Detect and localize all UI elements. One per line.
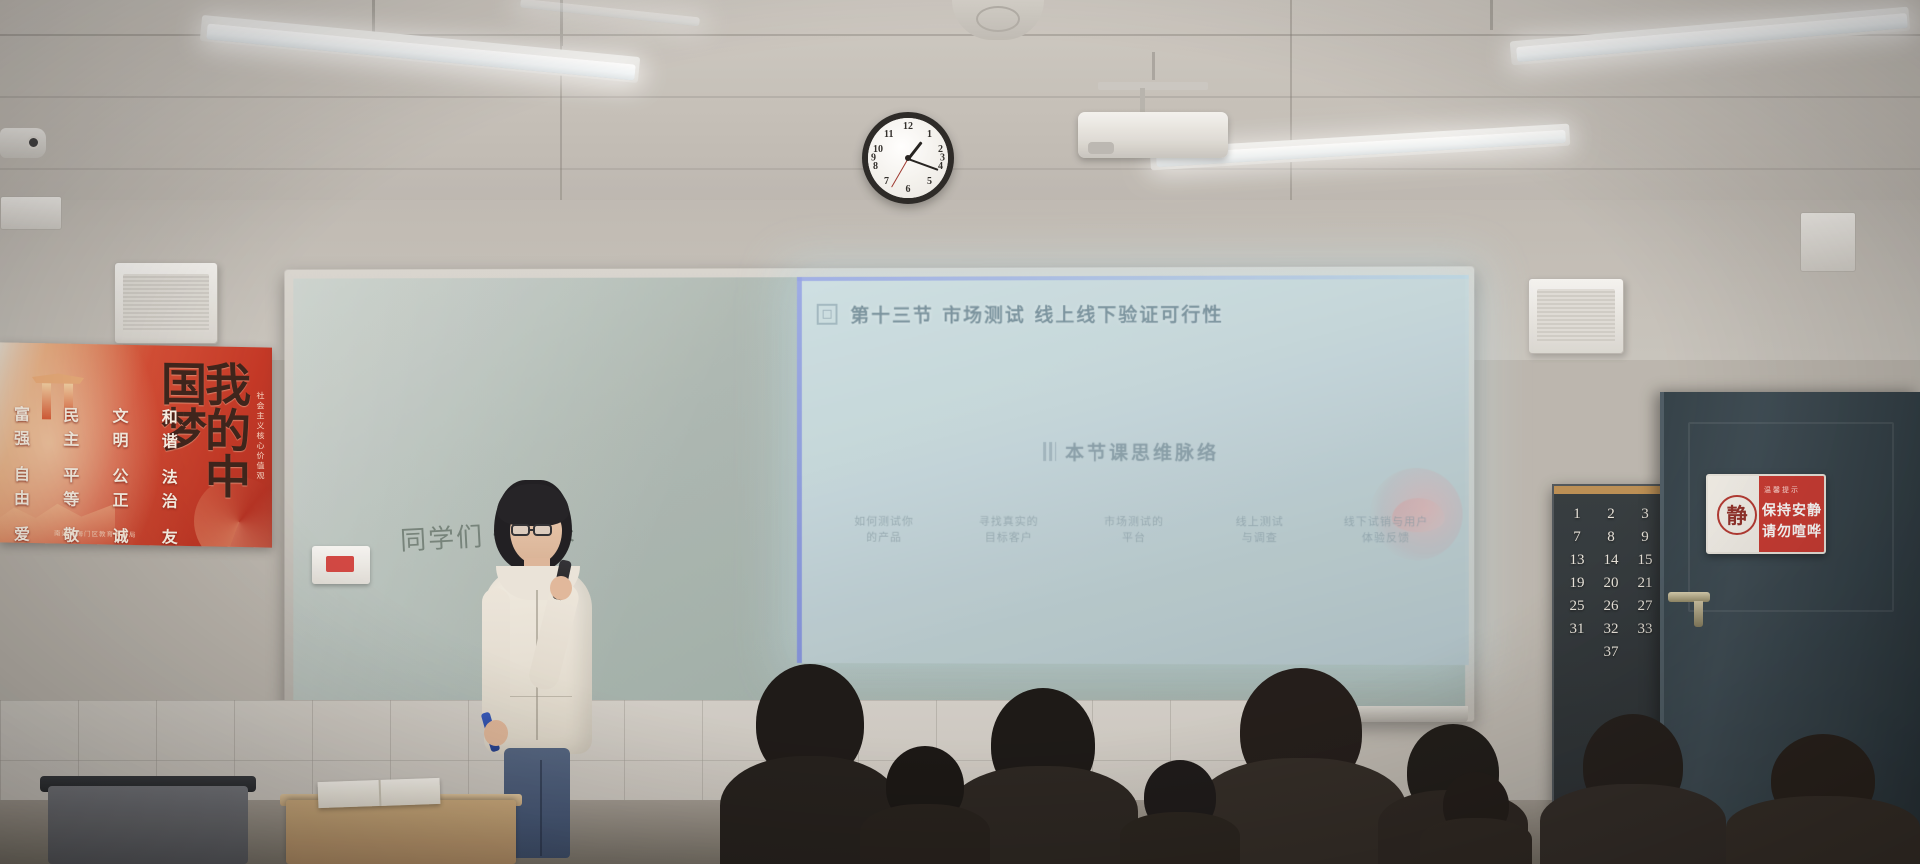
- seat-number: 32: [1604, 621, 1619, 638]
- teacher-hand-left: [484, 720, 508, 746]
- clock-numeral: 7: [884, 176, 889, 187]
- banner-side-text: 社会主义核心价值观: [255, 391, 266, 481]
- seat-row: 25 26 27: [1560, 598, 1662, 615]
- core-value-word: 民主: [63, 402, 95, 451]
- ceiling-projector: [1078, 112, 1228, 158]
- clock-numeral: 10: [873, 144, 883, 155]
- speaker-grill: [1537, 289, 1616, 342]
- banner-footer-text: 南通市海门区教育体育局: [54, 527, 137, 539]
- sign-top-text: 温馨提示: [1764, 485, 1800, 495]
- wall-speaker: [1528, 278, 1624, 354]
- seat-number: 27: [1638, 598, 1653, 615]
- slide-topic-cell: 寻找真实的 目标客户: [953, 514, 1065, 546]
- seat-number: 20: [1604, 575, 1619, 592]
- clock-numeral: 5: [927, 176, 932, 187]
- core-value-word: 自由: [14, 461, 46, 510]
- slide-center-text: 本节课思维脉络: [1065, 438, 1219, 465]
- board-eraser: [312, 546, 370, 584]
- projector-mount-plate: [1098, 82, 1208, 90]
- slide-title: 第十三节 市场测试 线上线下验证可行性: [850, 300, 1223, 328]
- light-rod: [1152, 52, 1155, 80]
- socialist-core-values-banner: 我的中国梦 社会主义核心价值观 富强 民主 文明 和谐 自由 平等 公正 法治 …: [0, 342, 272, 547]
- seat-number: 37: [1604, 644, 1619, 661]
- wall-clock: 12 1 2 3 4 5 6 7 8 9 10 11: [862, 112, 954, 204]
- glasses-icon: [533, 524, 552, 536]
- ceiling-seam: [0, 96, 1920, 98]
- clock-numeral: 11: [884, 129, 893, 140]
- seat-board-topbar: [1554, 486, 1668, 494]
- student-silhouette: [860, 746, 990, 864]
- seat-number: 15: [1638, 552, 1653, 569]
- ceiling-seam: [1290, 0, 1292, 205]
- wall-speaker: [114, 262, 218, 344]
- seat-number: 21: [1638, 575, 1653, 592]
- clock-numeral: 1: [927, 129, 932, 140]
- student-shoulders: [1420, 818, 1532, 864]
- slide-topic-line: 平台: [1078, 530, 1190, 546]
- seat-row: 37: [1560, 644, 1662, 661]
- clock-face: 12 1 2 3 4 5 6 7 8 9 10 11: [868, 118, 948, 198]
- teacher-desk: [286, 800, 516, 864]
- camera-lens-icon: [27, 136, 40, 149]
- teacher-arm-left: [482, 588, 510, 728]
- book-outline-icon: [817, 304, 838, 325]
- glasses-bridge: [530, 529, 535, 531]
- wall-vent: [1800, 212, 1856, 272]
- teacher-hair-front: [497, 484, 569, 526]
- pavilion-roof: [32, 373, 84, 384]
- core-value-word: 富强: [14, 401, 46, 450]
- clock-minute-hand: [908, 158, 939, 171]
- slide-topic-line: 目标客户: [953, 530, 1065, 546]
- ceiling-seam: [0, 168, 1920, 170]
- core-values-word-grid: 富强 民主 文明 和谐 自由 平等 公正 法治 爱国 敬业 诚信 友善: [14, 401, 194, 548]
- slide-topic-line: 体验反馈: [1330, 530, 1443, 546]
- seat-row: 1 2 3: [1560, 506, 1662, 523]
- seat-row: 7 8 9: [1560, 529, 1662, 546]
- sign-line-2: 请勿喧哗: [1762, 521, 1822, 541]
- clock-center-pin: [905, 155, 911, 161]
- wall-camera: [0, 128, 46, 158]
- light-rod: [1490, 0, 1493, 30]
- core-value-word: 公正: [113, 463, 145, 512]
- core-value-word: 友善: [162, 523, 194, 547]
- teacher-hand-right: [550, 576, 572, 600]
- slide-topic-cell: 市场测试的 平台: [1078, 514, 1190, 546]
- seat-number: 3: [1641, 506, 1649, 523]
- seat-number: 14: [1604, 552, 1619, 569]
- core-values-row: 富强 民主 文明 和谐: [14, 401, 194, 452]
- seat-number: 33: [1638, 621, 1653, 638]
- projected-slide: 第十三节 市场测试 线上线下验证可行性 本节课思维脉络 如何测试你 的产品 寻找…: [797, 275, 1469, 665]
- clock-numeral: 12: [903, 121, 913, 132]
- slide-left-edge: [797, 277, 802, 663]
- slide-topic-line: 寻找真实的: [953, 514, 1065, 530]
- bar-chart-icon: [1043, 442, 1056, 461]
- eraser-label: [326, 556, 354, 572]
- student-silhouette: [1120, 760, 1240, 864]
- student-silhouette: [1540, 714, 1726, 864]
- seat-number: 2: [1607, 506, 1615, 523]
- seat-number: 8: [1607, 529, 1615, 546]
- slide-center-heading: 本节课思维脉络: [797, 438, 1469, 465]
- hoodie-pocket: [502, 696, 572, 726]
- podium: [48, 786, 248, 864]
- student-shoulders: [860, 804, 990, 864]
- slide-topic-cell: 线上测试 与调查: [1204, 514, 1316, 546]
- seat-number: 1: [1573, 506, 1581, 523]
- slide-topic-line: 的产品: [829, 530, 940, 546]
- projector-lens: [1088, 142, 1114, 154]
- jeans-seam: [540, 760, 542, 856]
- student-silhouette: [1726, 734, 1920, 864]
- fan-guard: [976, 6, 1020, 32]
- door-handle[interactable]: [1668, 592, 1710, 602]
- seat-number: 26: [1604, 598, 1619, 615]
- core-values-row: 自由 平等 公正 法治: [14, 461, 194, 512]
- seat-number: 7: [1573, 529, 1581, 546]
- core-value-word: 法治: [162, 463, 194, 512]
- clock-numeral: 6: [906, 184, 911, 195]
- seat-number: 19: [1570, 575, 1585, 592]
- slide-topic-line: 市场测试的: [1078, 514, 1190, 530]
- slide-topic-cell: 线下试销与用户 体验反馈: [1330, 514, 1443, 546]
- slide-header: 第十三节 市场测试 线上线下验证可行性: [817, 300, 1224, 328]
- quiet-symbol-icon: 静: [1717, 495, 1757, 535]
- quiet-notice-sign: 静 温馨提示 保持安静 请勿喧哗: [1706, 474, 1826, 554]
- core-value-word: 爱国: [14, 521, 46, 548]
- seat-row: 19 20 21: [1560, 575, 1662, 592]
- student-shoulders: [1540, 784, 1726, 864]
- seat-number: 31: [1570, 621, 1585, 638]
- student-shoulders: [1120, 812, 1240, 864]
- classroom-scene: 12 1 2 3 4 5 6 7 8 9 10 11: [0, 0, 1920, 864]
- core-value-word: 平等: [63, 462, 95, 511]
- student-silhouette: [1420, 772, 1532, 864]
- seat-row: 13 14 15: [1560, 552, 1662, 569]
- core-value-word: 和谐: [162, 403, 194, 452]
- seat-row: 31 32 33: [1560, 621, 1662, 638]
- seat-number: 25: [1570, 598, 1585, 615]
- glasses-icon: [511, 524, 530, 536]
- open-textbook: [318, 778, 441, 808]
- wall-vent: [0, 196, 62, 230]
- clock-numeral: 4: [938, 161, 943, 172]
- slide-topic-line: 如何测试你: [829, 514, 940, 530]
- slide-topic-cell: 如何测试你 的产品: [829, 514, 940, 546]
- slide-topic-line: 与调查: [1204, 530, 1316, 546]
- seat-number: 13: [1570, 552, 1585, 569]
- slide-top-edge: [797, 275, 1469, 281]
- slide-topic-line: 线下试销与用户: [1330, 514, 1443, 530]
- student-shoulders: [1726, 796, 1920, 864]
- speaker-grill: [123, 274, 209, 332]
- slide-topic-line: 线上测试: [1204, 514, 1316, 530]
- seat-number: 9: [1641, 529, 1649, 546]
- sign-line-1: 保持安静: [1762, 500, 1822, 520]
- slide-topic-row: 如何测试你 的产品 寻找真实的 目标客户 市场测试的 平台 线上测试 与调查 线…: [829, 514, 1443, 547]
- core-value-word: 文明: [113, 403, 145, 452]
